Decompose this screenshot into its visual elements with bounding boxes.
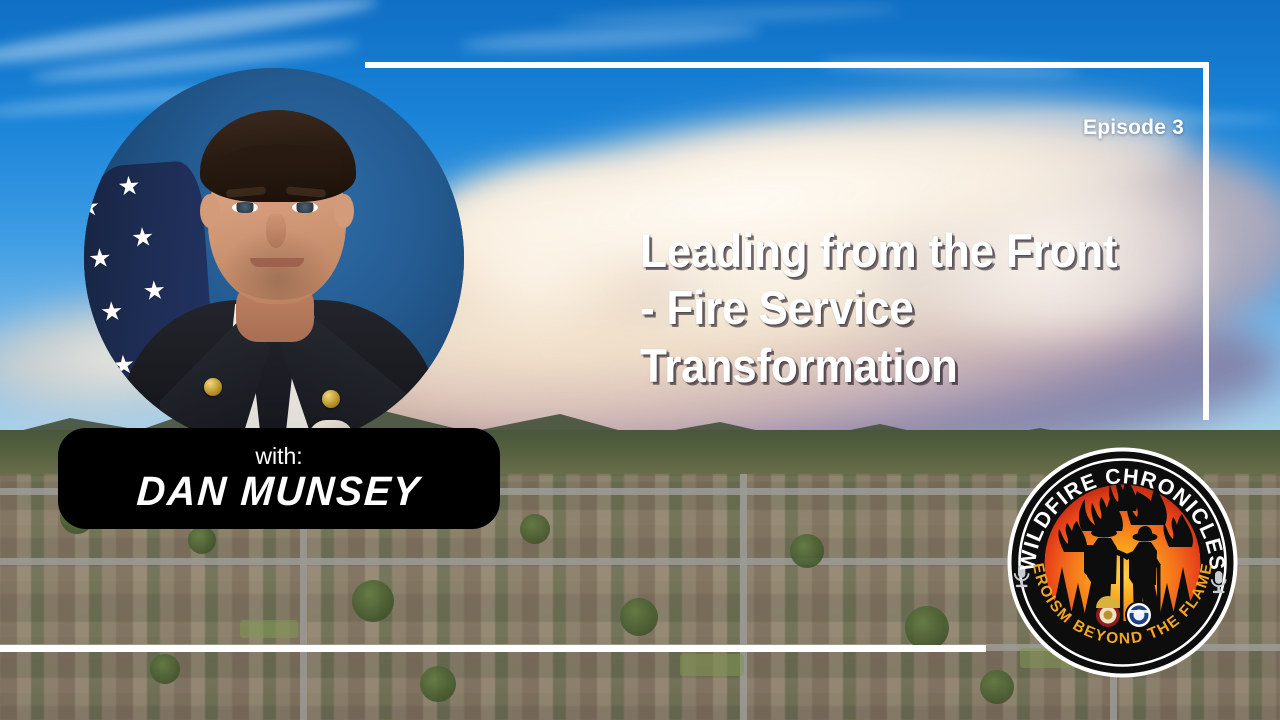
flag-star: ★ — [87, 244, 112, 272]
episode-label: Episode 3 — [1083, 116, 1184, 140]
tree — [905, 606, 949, 650]
mouth — [250, 258, 304, 267]
frame-rule-right — [1203, 62, 1209, 420]
guest-portrait: ★ ★ ★ ★ ★ ★ ★ ★ ★ — [84, 68, 464, 448]
title-line-3: Transformation — [640, 337, 1148, 394]
title-line-2: - Fire Service — [640, 279, 1148, 336]
tree — [150, 654, 180, 684]
with-label: with: — [255, 444, 302, 468]
lawn — [240, 620, 298, 638]
eye-left — [232, 202, 258, 213]
collar-insignia-right — [322, 390, 340, 408]
frame-rule-top — [365, 62, 1209, 68]
lawn — [680, 654, 744, 676]
nose — [266, 214, 286, 248]
tree — [420, 666, 456, 702]
flag-star: ★ — [116, 172, 141, 200]
episode-cover: Episode 3 Leading from the Front - Fire … — [0, 0, 1280, 720]
guest-name: DAN MUNSEY — [136, 470, 423, 513]
frame-rule-bottom — [0, 645, 986, 652]
tree — [352, 580, 394, 622]
podcast-logo: WILDFIRE CHRONICLES HEROISM BEYOND THE F… — [1005, 445, 1240, 680]
tree — [188, 526, 216, 554]
flag-star: ★ — [84, 193, 101, 221]
ear-left — [200, 194, 220, 228]
flag-star: ★ — [142, 276, 167, 304]
flag-star: ★ — [99, 297, 124, 325]
title-line-1: Leading from the Front — [640, 222, 1148, 279]
collar-insignia-left — [204, 378, 222, 396]
guest-name-pill: with: DAN MUNSEY — [58, 428, 500, 529]
ear-right — [334, 194, 354, 228]
eye-right — [292, 202, 318, 213]
flag-star: ★ — [130, 223, 155, 251]
tree — [790, 534, 824, 568]
tree — [620, 598, 658, 636]
episode-title: Leading from the Front - Fire Service Tr… — [640, 222, 1148, 394]
tree — [520, 514, 550, 544]
street — [740, 474, 747, 720]
